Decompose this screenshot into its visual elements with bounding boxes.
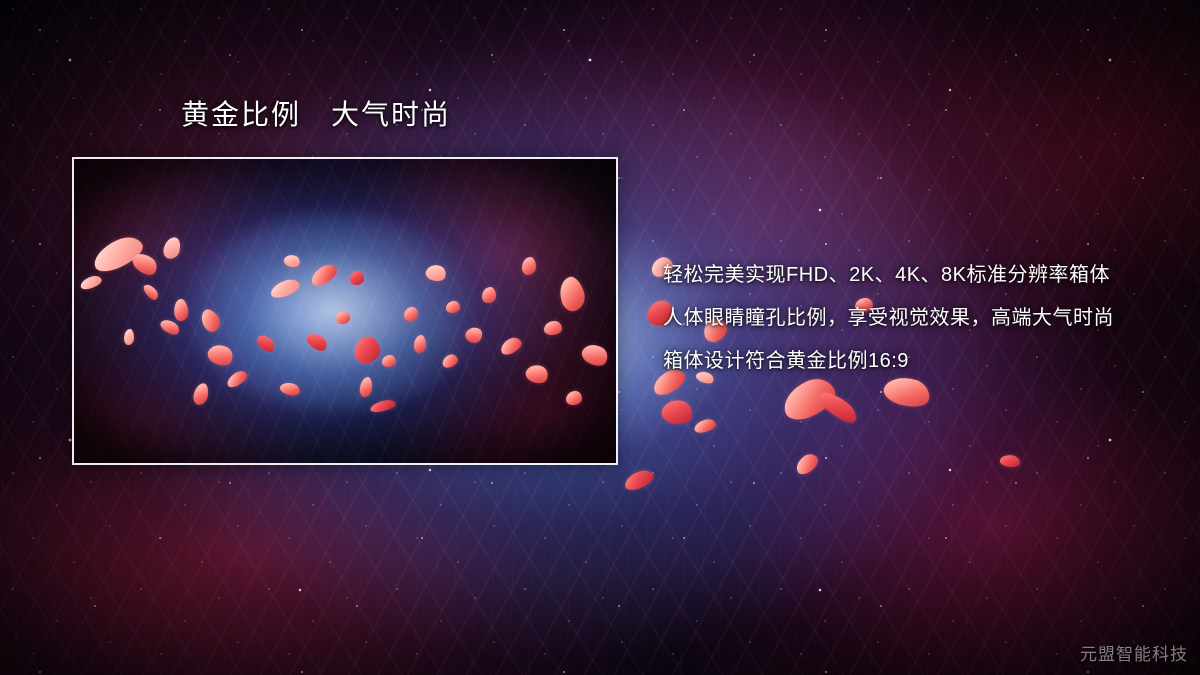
page-title: 黄金比例 大气时尚 [181, 101, 451, 129]
body-copy-line-1: 轻松完美实现FHD、2K、4K、8K标准分辨率箱体 [663, 254, 1143, 297]
presentation-slide: 黄金比例 大气时尚 轻松完美实现FHD、2K、4K、8K标准分辨率箱体人体眼睛瞳… [0, 0, 1200, 675]
body-copy: 轻松完美实现FHD、2K、4K、8K标准分辨率箱体人体眼睛瞳孔比例，享受视觉效果… [663, 254, 1143, 383]
framed-image-vignette [74, 159, 616, 463]
framed-image [72, 157, 618, 465]
watermark: 元盟智能科技 [1080, 640, 1188, 665]
body-copy-line-3: 箱体设计符合黄金比例16:9 [663, 340, 1143, 383]
body-copy-line-2: 人体眼睛瞳孔比例，享受视觉效果，高端大气时尚 [663, 297, 1143, 340]
